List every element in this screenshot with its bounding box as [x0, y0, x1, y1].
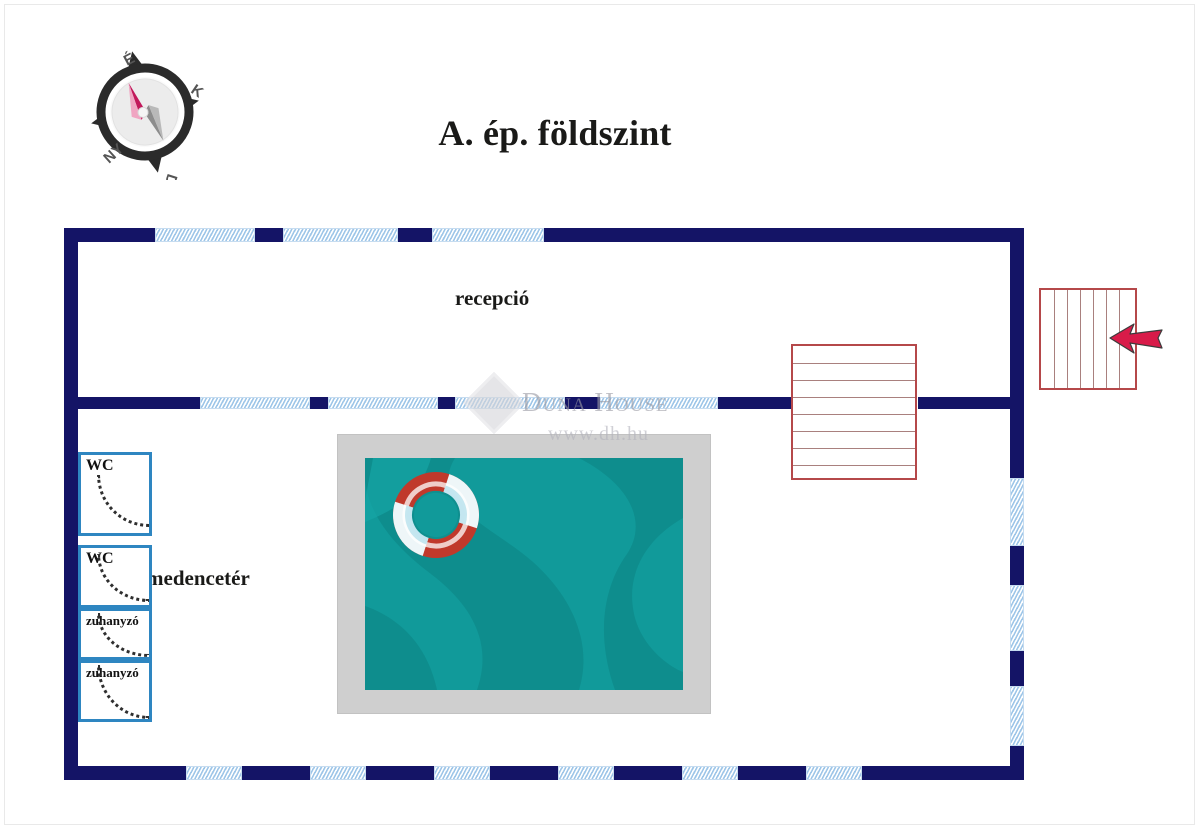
room-shower-1[interactable]: zuhanyzó	[78, 608, 152, 660]
page-title: A. ép. földszint	[330, 112, 780, 154]
window-bottom-6	[806, 766, 862, 780]
compass-label-south: D	[161, 172, 181, 180]
floor-plan-page: NY É K D A. ép. földszint recepció meden…	[0, 0, 1200, 830]
window-divider-2	[328, 397, 438, 409]
room-shower-2[interactable]: zuhanyzó	[78, 660, 152, 722]
window-bottom-5	[682, 766, 738, 780]
window-divider-1	[200, 397, 310, 409]
window-right-3	[1010, 686, 1024, 746]
window-right-1	[1010, 478, 1024, 546]
window-divider-4	[600, 397, 718, 409]
life-ring-icon	[387, 466, 485, 564]
door-swing-shower-2	[97, 665, 149, 719]
window-right-2	[1010, 585, 1024, 651]
room-wc-2[interactable]: WC	[78, 545, 152, 608]
window-bottom-1	[186, 766, 242, 780]
swimming-pool[interactable]	[365, 458, 683, 690]
room-wc-1[interactable]: WC	[78, 452, 152, 536]
window-bottom-4	[558, 766, 614, 780]
compass-rose: NY É K D	[80, 40, 210, 180]
room-label-recepcio: recepció	[455, 286, 529, 311]
wall-exterior-left	[64, 228, 78, 780]
room-wc-1-label: WC	[86, 457, 114, 475]
window-top-1	[155, 228, 255, 242]
room-label-medenceter: medencetér	[146, 566, 250, 591]
door-swing-shower-1	[97, 613, 149, 657]
window-divider-3	[455, 397, 565, 409]
window-top-2	[283, 228, 398, 242]
door-swing-wc-2	[97, 554, 149, 602]
door-swing-wc-1	[97, 475, 149, 527]
interior-stair[interactable]	[791, 344, 917, 480]
entrance-arrow-icon	[1108, 318, 1164, 358]
window-top-3	[432, 228, 544, 242]
window-bottom-2	[310, 766, 366, 780]
wall-interior-divider-right	[918, 397, 1024, 409]
window-bottom-3	[434, 766, 490, 780]
